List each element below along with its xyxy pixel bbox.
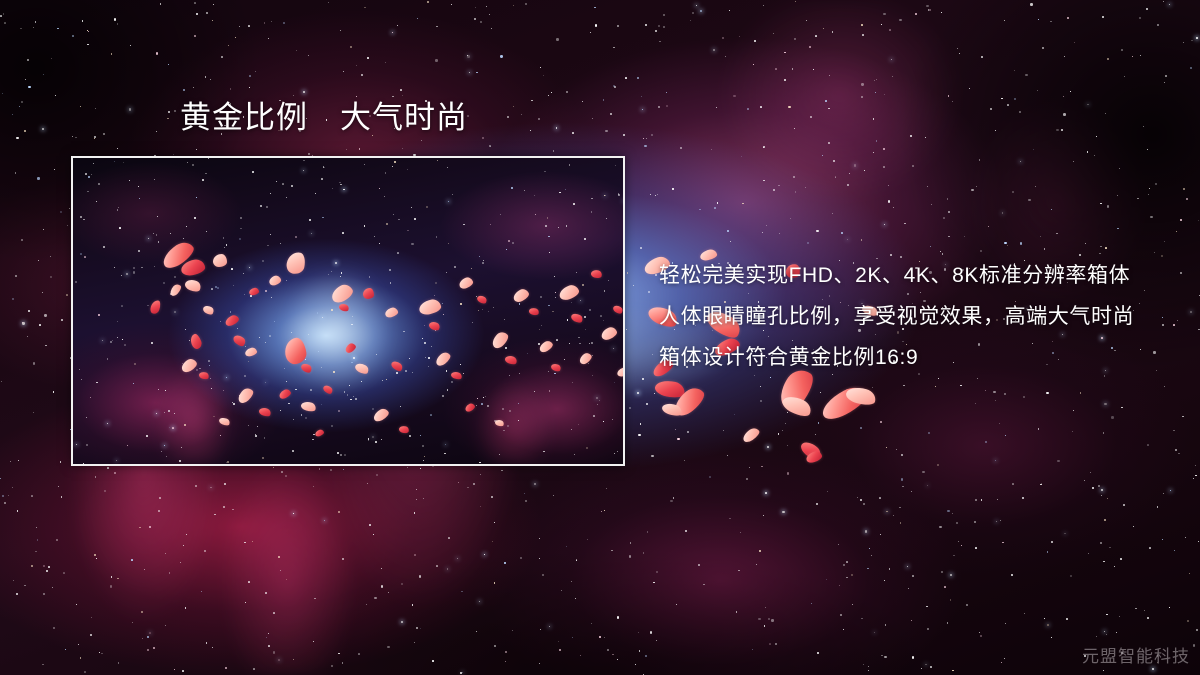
body-line-2: 人体眼睛瞳孔比例，享受视觉效果，高端大气时尚 <box>659 296 1179 337</box>
page-title: 黄金比例 大气时尚 <box>180 102 468 133</box>
body-copy: 轻松完美实现FHD、2K、4K、8K标准分辨率箱体 人体眼睛瞳孔比例，享受视觉效… <box>659 255 1179 378</box>
body-line-3: 箱体设计符合黄金比例16:9 <box>659 337 1179 378</box>
slide-canvas: 黄金比例 大气时尚 轻松完美实现FHD、2K、4K、8K标准分辨率箱体 人体眼睛… <box>0 0 1200 675</box>
watermark: 元盟智能科技 <box>1082 642 1190 667</box>
framed-image-panel <box>71 156 625 466</box>
body-line-1: 轻松完美实现FHD、2K、4K、8K标准分辨率箱体 <box>659 255 1179 296</box>
